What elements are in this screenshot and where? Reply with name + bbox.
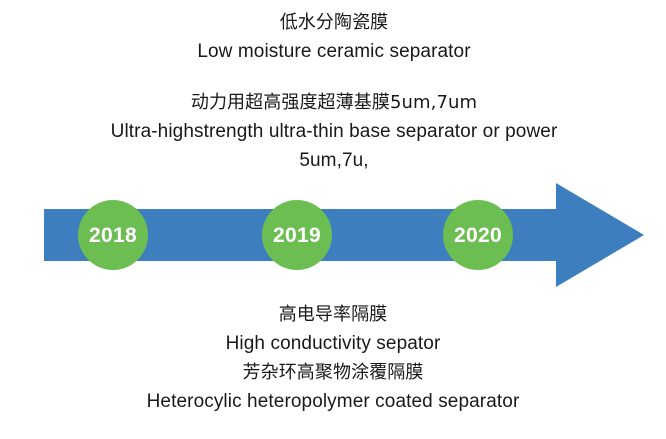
top-annotation-text: 低水分陶瓷膜 Low moisture ceramic separator	[0, 8, 666, 66]
milestone-marker-2019[interactable]: 2019	[262, 200, 332, 270]
milestone-marker-2020[interactable]: 2020	[443, 200, 513, 270]
milestone-label-2019: 2019	[273, 225, 321, 246]
middle-annotation-text: 动力用超高强度超薄基膜5um,7um Ultra-highstrength ul…	[0, 88, 666, 175]
timeline-diagram: 低水分陶瓷膜 Low moisture ceramic separator 动力…	[0, 0, 666, 439]
middle-text-line-1: 动力用超高强度超薄基膜5um,7um	[1, 88, 666, 117]
milestone-marker-2018[interactable]: 2018	[78, 200, 148, 270]
bottom-text-line-1: 高电导率隔膜	[0, 300, 666, 329]
bottom-text-line-3: 芳杂环高聚物涂覆隔膜	[0, 358, 666, 387]
milestone-label-2020: 2020	[454, 225, 502, 246]
bottom-text-line-2: High conductivity sepator	[0, 329, 666, 358]
middle-text-line-2: Ultra-highstrength ultra-thin base separ…	[1, 117, 666, 146]
milestone-label-2018: 2018	[89, 225, 137, 246]
top-text-line-2: Low moisture ceramic separator	[1, 37, 666, 66]
middle-text-line-3: 5um,7u,	[1, 146, 666, 175]
bottom-text-line-4: Heterocylic heteropolymer coated separat…	[0, 387, 666, 416]
top-text-line-1: 低水分陶瓷膜	[1, 8, 666, 37]
bottom-annotation-text: 高电导率隔膜 High conductivity sepator 芳杂环高聚物涂…	[0, 300, 666, 416]
